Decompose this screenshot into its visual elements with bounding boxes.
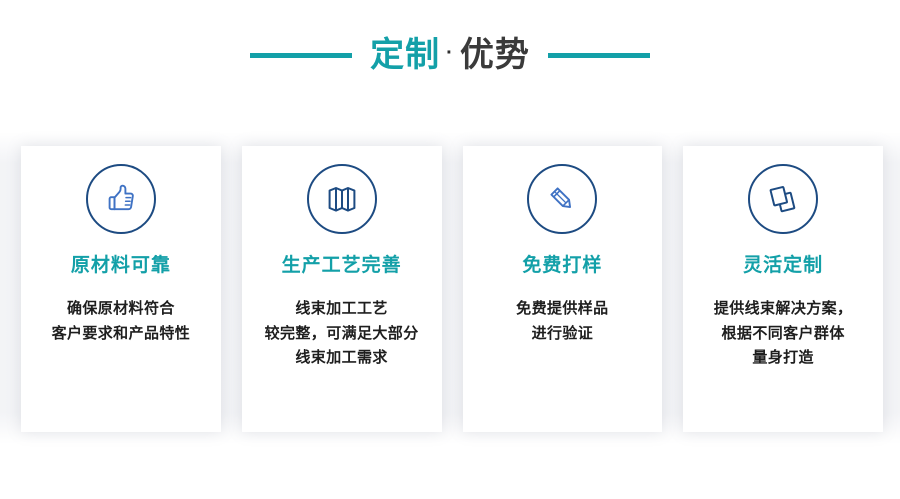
card-body: 提供线束解决方案， 根据不同客户群体 量身打造 bbox=[714, 297, 853, 371]
advantage-card[interactable]: 原材料可靠 确保原材料符合 客户要求和产品特性 bbox=[21, 146, 221, 432]
section-heading: 定制 · 优势 bbox=[0, 24, 900, 86]
card-body-line: 较完整，可满足大部分 bbox=[265, 322, 419, 347]
title-separator-dot: · bbox=[446, 43, 454, 63]
icon-circle bbox=[307, 164, 377, 234]
card-body-line: 确保原材料符合 bbox=[52, 297, 191, 322]
card-body-line: 客户要求和产品特性 bbox=[52, 322, 191, 347]
icon-circle bbox=[86, 164, 156, 234]
card-title: 免费打样 bbox=[522, 256, 602, 277]
pencil-icon bbox=[543, 180, 581, 218]
card-body-line: 根据不同客户群体 bbox=[714, 322, 853, 347]
card-body-line: 线束加工工艺 bbox=[265, 297, 419, 322]
icon-circle bbox=[527, 164, 597, 234]
card-body-line: 提供线束解决方案， bbox=[714, 297, 853, 322]
card-body-line: 线束加工需求 bbox=[265, 346, 419, 371]
title-rule-right bbox=[548, 53, 650, 58]
page-title: 定制 · 优势 bbox=[370, 38, 530, 72]
icon-circle bbox=[748, 164, 818, 234]
card-body-line: 量身打造 bbox=[714, 346, 853, 371]
title-sub-text: 优势 bbox=[460, 38, 530, 72]
card-body: 线束加工工艺 较完整，可满足大部分 线束加工需求 bbox=[265, 297, 419, 371]
card-title: 灵活定制 bbox=[743, 256, 823, 277]
card-title: 生产工艺完善 bbox=[282, 256, 402, 277]
advantage-card[interactable]: 生产工艺完善 线束加工工艺 较完整，可满足大部分 线束加工需求 bbox=[242, 146, 442, 432]
card-body: 确保原材料符合 客户要求和产品特性 bbox=[52, 297, 191, 347]
advantage-card-list: 原材料可靠 确保原材料符合 客户要求和产品特性 生产工艺完善 线束加工工艺 较完… bbox=[21, 146, 883, 432]
stacked-cards-icon bbox=[764, 180, 802, 218]
title-rule-left bbox=[250, 53, 352, 58]
advantage-card[interactable]: 灵活定制 提供线束解决方案， 根据不同客户群体 量身打造 bbox=[683, 146, 883, 432]
card-title: 原材料可靠 bbox=[71, 256, 171, 277]
advantage-card[interactable]: 免费打样 免费提供样品 进行验证 bbox=[463, 146, 663, 432]
card-body-line: 进行验证 bbox=[516, 322, 608, 347]
advantages-section: 定制 · 优势 原材料可靠 确保原材料符合 客户要求和产品特性 bbox=[0, 0, 900, 499]
title-main-text: 定制 bbox=[370, 38, 440, 72]
folded-map-icon bbox=[323, 180, 361, 218]
thumbs-up-icon bbox=[102, 180, 140, 218]
card-body: 免费提供样品 进行验证 bbox=[516, 297, 608, 347]
card-body-line: 免费提供样品 bbox=[516, 297, 608, 322]
